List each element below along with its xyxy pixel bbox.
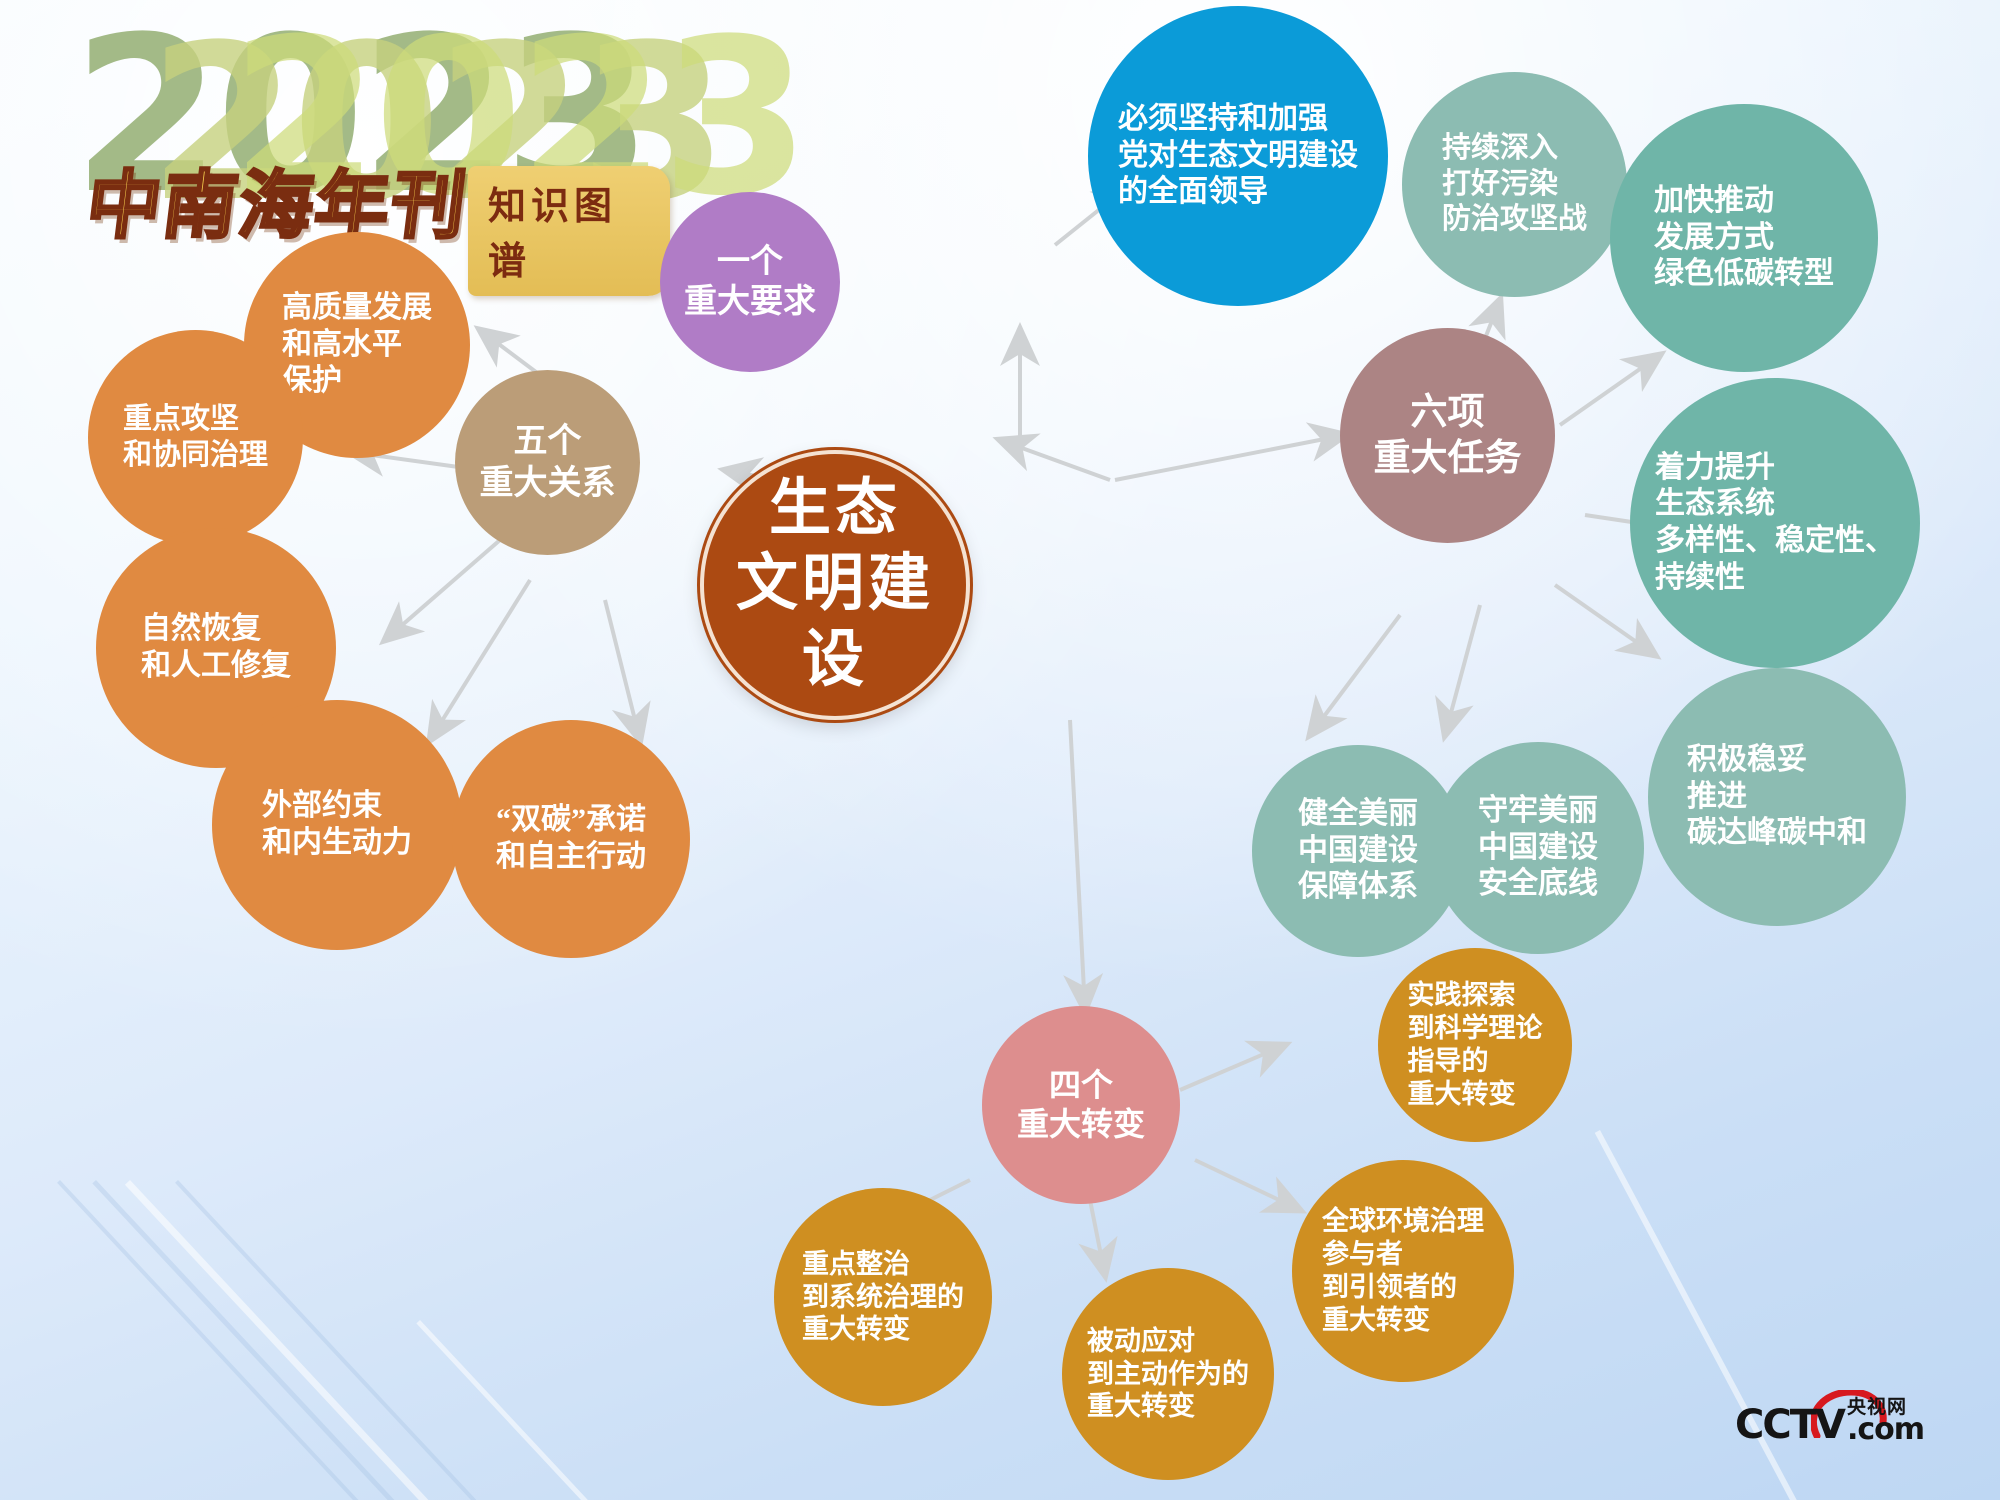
node-label: 持续深入 打好污染 防治攻坚战 bbox=[1436, 131, 1593, 237]
node-label: 重点整治 到系统治理的 重大转变 bbox=[796, 1248, 970, 1347]
node-label: 自然恢复 和人工修复 bbox=[135, 611, 297, 684]
cctv-domain: .com bbox=[1847, 1412, 1924, 1447]
node-label: 加快推动 发展方式 绿色低碳转型 bbox=[1648, 183, 1840, 293]
node-label: 全球环境治理 参与者 到引领者的 重大转变 bbox=[1316, 1205, 1490, 1337]
node-guarantee-system[interactable]: 健全美丽 中国建设 保障体系 bbox=[1252, 745, 1464, 957]
node-label: 实践探索 到科学理论 指导的 重大转变 bbox=[1402, 979, 1549, 1111]
node-label: 外部约束 和内生动力 bbox=[256, 788, 418, 861]
node-key-battle-coordination[interactable]: 重点攻坚 和协同治理 bbox=[88, 330, 303, 545]
cctv-logo: CCTV 央视网 .com bbox=[1735, 1390, 1950, 1452]
node-label: 着力提升 生态系统 多样性、稳定性、 持续性 bbox=[1649, 450, 1901, 596]
node-label: 一个 重大要求 bbox=[678, 242, 822, 323]
node-label: 四个 重大转变 bbox=[1011, 1066, 1151, 1144]
node-label: 积极稳妥 推进 碳达峰碳中和 bbox=[1681, 742, 1873, 852]
node-pollution-prevention[interactable]: 持续深入 打好污染 防治攻坚战 bbox=[1402, 72, 1627, 297]
node-global-governance-leader[interactable]: 全球环境治理 参与者 到引领者的 重大转变 bbox=[1292, 1160, 1514, 1382]
node-label: 健全美丽 中国建设 保障体系 bbox=[1292, 796, 1424, 906]
publication-logo: 2023 2023 2023 中南海年刊 知识图谱 bbox=[30, 6, 670, 236]
knowledge-graph-badge: 知识图谱 bbox=[468, 166, 670, 296]
node-hub-five-relations[interactable]: 五个 重大关系 bbox=[455, 370, 640, 555]
node-label: 被动应对 到主动作为的 重大转变 bbox=[1081, 1325, 1255, 1424]
node-center-eco-civilization[interactable]: 生态 文明建设 bbox=[700, 450, 970, 720]
node-label: 生态 文明建设 bbox=[704, 472, 966, 699]
node-key-to-systemic-governance[interactable]: 重点整治 到系统治理的 重大转变 bbox=[774, 1188, 992, 1406]
node-green-lowcarbon-transition[interactable]: 加快推动 发展方式 绿色低碳转型 bbox=[1610, 104, 1878, 372]
node-hub-four-transitions[interactable]: 四个 重大转变 bbox=[982, 1006, 1180, 1204]
node-ecosystem-diversity[interactable]: 着力提升 生态系统 多样性、稳定性、 持续性 bbox=[1630, 378, 1920, 668]
node-label: 必须坚持和加强 党对生态文明建设 的全面领导 bbox=[1112, 101, 1364, 211]
node-label: 五个 重大关系 bbox=[474, 421, 622, 504]
infographic-canvas: 2023 2023 2023 中南海年刊 知识图谱 生态 文明建设 五个 重大关… bbox=[0, 0, 2000, 1500]
publication-title: 中南海年刊 bbox=[81, 146, 474, 253]
cctv-wordmark: CCTV bbox=[1735, 1402, 1844, 1448]
node-carbon-peak-neutrality[interactable]: 积极稳妥 推进 碳达峰碳中和 bbox=[1648, 668, 1906, 926]
node-party-leadership[interactable]: 必须坚持和加强 党对生态文明建设 的全面领导 bbox=[1088, 6, 1388, 306]
node-external-constraint[interactable]: 外部约束 和内生动力 bbox=[212, 700, 462, 950]
node-dual-carbon-commitment[interactable]: “双碳”承诺 和自主行动 bbox=[452, 720, 690, 958]
node-label: 六项 重大任务 bbox=[1368, 390, 1528, 480]
node-label: 高质量发展 和高水平 保护 bbox=[276, 290, 438, 400]
node-label: “双碳”承诺 和自主行动 bbox=[490, 802, 652, 875]
node-label: 守牢美丽 中国建设 安全底线 bbox=[1472, 793, 1604, 903]
node-hub-one-requirement[interactable]: 一个 重大要求 bbox=[660, 192, 840, 372]
node-passive-to-active[interactable]: 被动应对 到主动作为的 重大转变 bbox=[1062, 1268, 1274, 1480]
node-practice-to-theory[interactable]: 实践探索 到科学理论 指导的 重大转变 bbox=[1378, 948, 1572, 1142]
node-hub-six-tasks[interactable]: 六项 重大任务 bbox=[1340, 328, 1555, 543]
node-label: 重点攻坚 和协同治理 bbox=[117, 402, 274, 473]
